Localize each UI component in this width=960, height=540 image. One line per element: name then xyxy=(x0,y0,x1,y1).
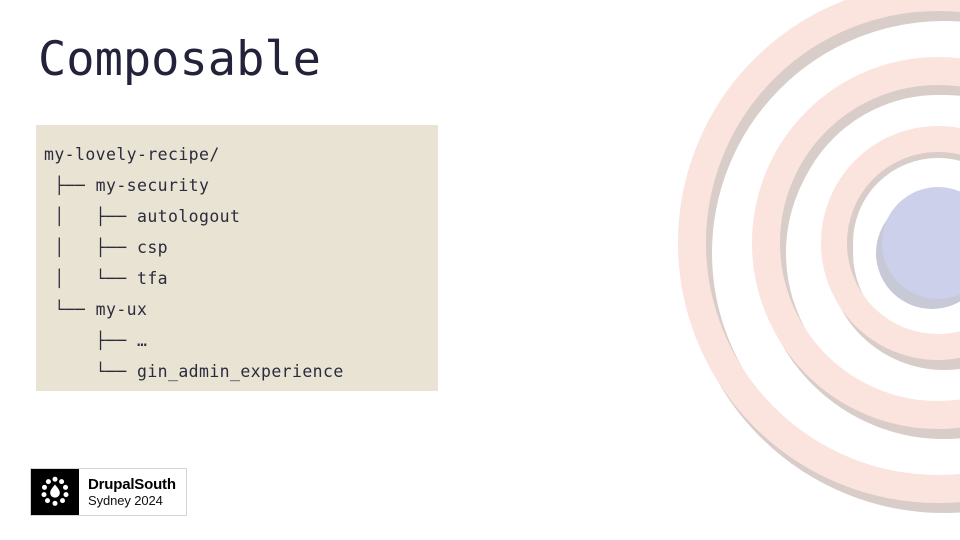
drupalsouth-logo: DrupalSouth Sydney 2024 xyxy=(30,468,187,516)
concentric-rings-decoration xyxy=(620,0,960,540)
slide: Composable my-lovely-recipe/ ├── my-secu… xyxy=(0,0,960,540)
code-line-tfa: │ └── tfa xyxy=(36,263,438,294)
ring-gap-3 xyxy=(738,43,960,443)
logo-secondary-text: Sydney 2024 xyxy=(88,493,176,509)
center-disc-shadow xyxy=(876,197,960,309)
drupal-droplet-icon xyxy=(31,469,79,515)
code-line-ellipsis: ├── … xyxy=(36,325,438,356)
ring-pink-3 xyxy=(766,71,960,415)
logo-text-panel: DrupalSouth Sydney 2024 xyxy=(79,469,186,515)
center-disc xyxy=(882,187,960,299)
ring-shadow-2 xyxy=(840,149,960,357)
code-line-csp: │ ├── csp xyxy=(36,232,438,263)
ring-gap-2 xyxy=(808,113,960,373)
code-line-gin-admin-experience: └── gin_admin_experience xyxy=(36,356,438,387)
code-line-autologout: │ ├── autologout xyxy=(36,201,438,232)
code-line-my-ux: └── my-ux xyxy=(36,294,438,325)
ring-shadow-4 xyxy=(698,7,960,499)
ring-pink-4 xyxy=(692,0,960,489)
code-block: my-lovely-recipe/ ├── my-security │ ├── … xyxy=(36,125,438,391)
ring-pink-2 xyxy=(834,139,960,347)
ring-shadow-3 xyxy=(772,81,960,425)
ring-gap-1 xyxy=(868,173,960,313)
code-line-my-security: ├── my-security xyxy=(36,170,438,201)
page-title: Composable xyxy=(38,34,321,86)
code-line-root: my-lovely-recipe/ xyxy=(36,139,438,170)
logo-primary-text: DrupalSouth xyxy=(88,476,176,493)
